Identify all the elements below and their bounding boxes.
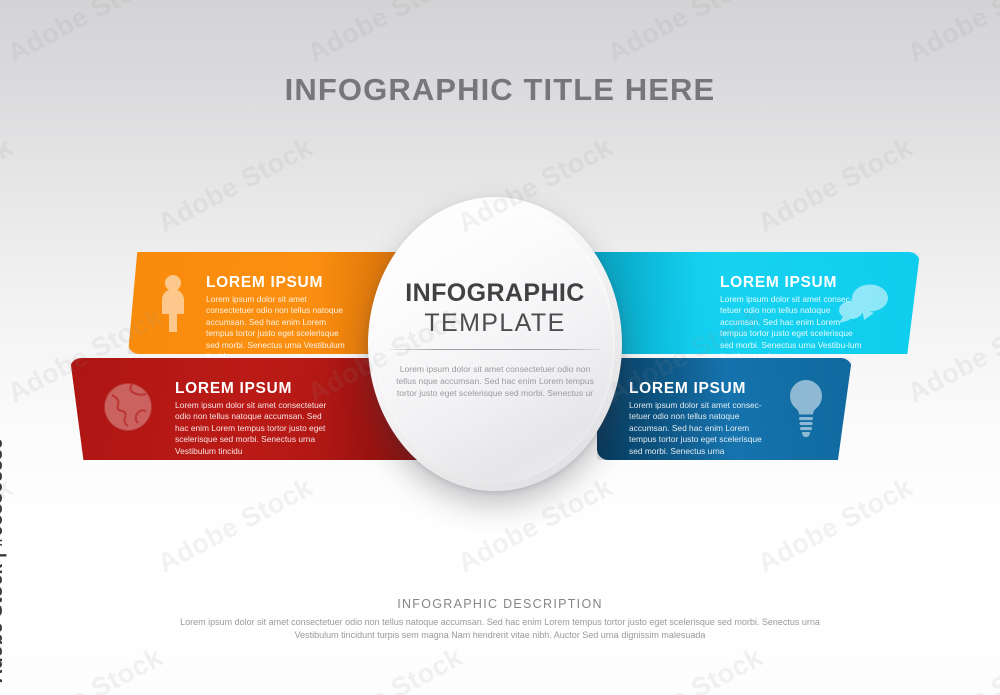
watermark-tile: Adobe Stock bbox=[603, 642, 768, 695]
banner-blue[interactable]: LOREM IPSUM Lorem ipsum dolor sit amet c… bbox=[597, 358, 852, 460]
globe-icon bbox=[102, 381, 154, 438]
circle-title-line1: INFOGRAPHIC bbox=[368, 279, 622, 308]
speech-bubbles-icon bbox=[838, 282, 890, 329]
watermark-tile: Adobe Stock bbox=[153, 132, 318, 239]
page-title: INFOGRAPHIC TITLE HERE bbox=[0, 72, 1000, 108]
banner-red-heading: LOREM IPSUM bbox=[175, 380, 292, 398]
banner-cyan-heading: LOREM IPSUM bbox=[720, 274, 837, 292]
banner-orange-body: Lorem ipsum dolor sit amet consectetuer … bbox=[206, 294, 354, 362]
watermark-tile: Adobe Stock bbox=[303, 642, 468, 695]
circle-title-line2: TEMPLATE bbox=[368, 309, 622, 338]
banner-blue-body: Lorem ipsum dolor sit amet consec-tetuer… bbox=[629, 400, 769, 457]
person-icon bbox=[158, 274, 188, 337]
circle-divider bbox=[390, 349, 600, 350]
watermark-tile: Adobe Stock bbox=[903, 0, 1000, 69]
watermark-tile: Adobe Stock bbox=[153, 472, 318, 579]
watermark-tile: Adobe Stock bbox=[3, 642, 168, 695]
circle-body-text: Lorem ipsum dolor sit amet consectetuer … bbox=[395, 363, 595, 400]
watermark-tile: Adobe Stock bbox=[3, 0, 168, 69]
watermark-tile: Adobe Stock bbox=[753, 132, 918, 239]
watermark-tile: Adobe Stock bbox=[303, 0, 468, 69]
banner-red-body: Lorem ipsum dolor sit amet consectetuer … bbox=[175, 400, 327, 457]
watermark-tile: Adobe Stock bbox=[903, 642, 1000, 695]
watermark-tile: Adobe Stock bbox=[603, 0, 768, 69]
center-circle[interactable]: INFOGRAPHIC TEMPLATE Lorem ipsum dolor s… bbox=[368, 197, 622, 491]
infographic-canvas: INFOGRAPHIC TITLE HERE LOREM IPSUM Lorem… bbox=[0, 0, 1000, 695]
circle-inner-face bbox=[375, 205, 615, 483]
banner-blue-heading: LOREM IPSUM bbox=[629, 380, 746, 398]
lightbulb-icon bbox=[787, 378, 825, 445]
footer-title: INFOGRAPHIC DESCRIPTION bbox=[0, 597, 1000, 611]
footer-body: Lorem ipsum dolor sit amet consectetuer … bbox=[170, 616, 830, 641]
watermark-tile: Adobe Stock bbox=[753, 472, 918, 579]
watermark-stock-id: Adobe Stock | #958368886 bbox=[0, 438, 8, 683]
banner-blue-content: LOREM IPSUM Lorem ipsum dolor sit amet c… bbox=[597, 358, 852, 460]
banner-orange-heading: LOREM IPSUM bbox=[206, 274, 323, 292]
watermark-tile: Adobe Stock bbox=[0, 132, 18, 239]
